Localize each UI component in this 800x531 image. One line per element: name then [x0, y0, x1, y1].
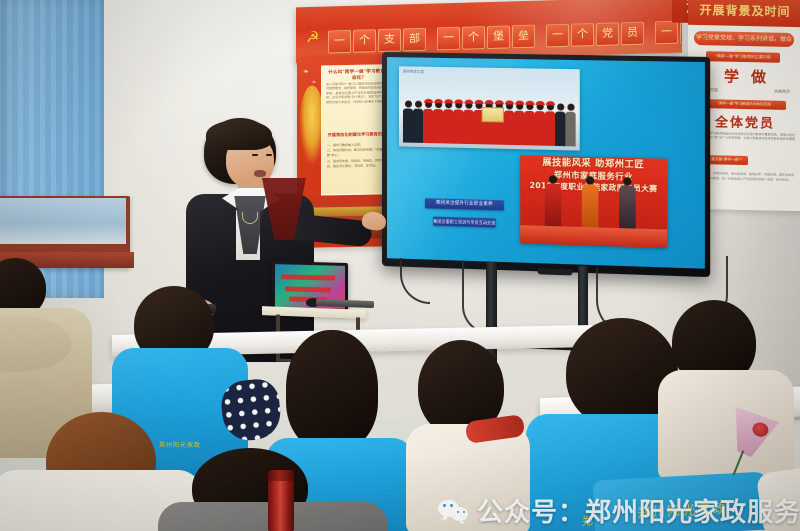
- slogan-char: 一: [655, 21, 678, 45]
- tv-bezel: 郑州市总工会 展技能风采 助郑州工匠 郑州市家庭服务行业 2018年度职业技能家…: [382, 52, 710, 277]
- poster-tag-2: "两学一做"学习教育的对象和范围: [702, 99, 786, 110]
- tv-logo-bar: [537, 268, 572, 275]
- slogan-char: 部: [403, 28, 426, 52]
- slide-text-box-2: 集团注重职工培训与学员互动交流: [433, 217, 496, 228]
- photo-person: [535, 103, 545, 146]
- slide-photo-award: 展技能风采 助郑州工匠 郑州市家庭服务行业 2018年度职业技能家政服务员大赛: [520, 155, 667, 248]
- screenshot-root: ☭ 一个支部一个堡垒一个党员一面旗帜 深入开展 ❧ ❧ 什么叫"两学一做"学习教…: [0, 0, 800, 531]
- wechat-watermark: 公众号：郑州阳光家政服务公司: [438, 492, 800, 529]
- poster-tag-1: "两学一做"学习教育的主要内容: [706, 51, 780, 63]
- photo-person: [504, 102, 514, 145]
- photo-person: [514, 103, 524, 146]
- polka-dot-scarf: [219, 377, 283, 443]
- photo-person: [453, 101, 463, 143]
- poster-header: 开展背景及时间: [688, 0, 800, 27]
- thermos-cap: [268, 470, 294, 481]
- slogan-gap: [428, 28, 435, 49]
- photo-person: [555, 103, 565, 146]
- slide-photo-group: 郑州市总工会: [399, 66, 580, 150]
- slogan-char: 堡: [487, 25, 510, 49]
- window-glass: [0, 198, 126, 244]
- photo-logo-text: 郑州市总工会: [403, 69, 424, 74]
- slogan-char: 垒: [512, 25, 535, 49]
- award-person: [545, 175, 561, 228]
- photo-person: [524, 103, 534, 146]
- slogan-gap: [537, 24, 544, 45]
- slogan-char: 个: [571, 23, 594, 47]
- wechat-icon: [438, 498, 468, 524]
- slide-text-box-1: 集团关注提升行业职业素养: [425, 198, 504, 210]
- photo-person: [565, 104, 575, 147]
- photo-person: [545, 103, 555, 146]
- speaker-eye: [266, 154, 272, 156]
- red-thermos-flask: [268, 470, 294, 531]
- tv-screen[interactable]: 郑州市总工会 展技能风采 助郑州工匠 郑州市家庭服务行业 2018年度职业技能家…: [387, 57, 705, 269]
- photo-person: [433, 101, 443, 143]
- presentation-display[interactable]: 郑州市总工会 展技能风采 助郑州工匠 郑州市家庭服务行业 2018年度职业技能家…: [382, 52, 710, 277]
- photo-person: [413, 101, 423, 143]
- speaker-eye: [252, 154, 258, 156]
- photo-person: [463, 102, 473, 145]
- award-person: [619, 177, 636, 231]
- certificate-icon: [481, 107, 503, 123]
- slogan-char: 党: [596, 22, 619, 46]
- poster-mini-right: 合格党员: [774, 89, 790, 95]
- dove-icon: ❧: [312, 80, 316, 86]
- photo-person: [443, 101, 453, 143]
- slogan-char: 一: [328, 30, 351, 54]
- party-emblem-icon: ☭: [306, 30, 324, 47]
- photo-person: [403, 100, 413, 142]
- party-slogan-text: 一个支部一个堡垒一个党员一面旗帜: [328, 19, 682, 54]
- slogan-char: 一: [437, 27, 460, 51]
- watermark-text: 公众号：郑州阳光家政服务公司: [477, 492, 800, 529]
- rose-stem: [733, 450, 745, 475]
- dove-icon: ❧: [303, 68, 309, 76]
- slogan-char: 个: [353, 29, 376, 53]
- slogan-char: 个: [462, 26, 485, 50]
- slogan-char: 一: [546, 24, 569, 48]
- speaker-mouth: [254, 170, 266, 177]
- attendee-head: [286, 330, 378, 450]
- slogan-gap: [646, 21, 653, 42]
- stage-floor: [520, 225, 667, 248]
- slogan-char: 员: [621, 22, 644, 46]
- slogan-char: 支: [378, 28, 401, 52]
- slogan-char: 面: [680, 20, 682, 44]
- photo-person: [423, 101, 433, 143]
- speaker-fringe: [206, 120, 272, 150]
- award-person: [582, 176, 599, 229]
- poster-subtitle-banner: 学习党章党规、学习系列讲话，做合格党员: [694, 31, 794, 47]
